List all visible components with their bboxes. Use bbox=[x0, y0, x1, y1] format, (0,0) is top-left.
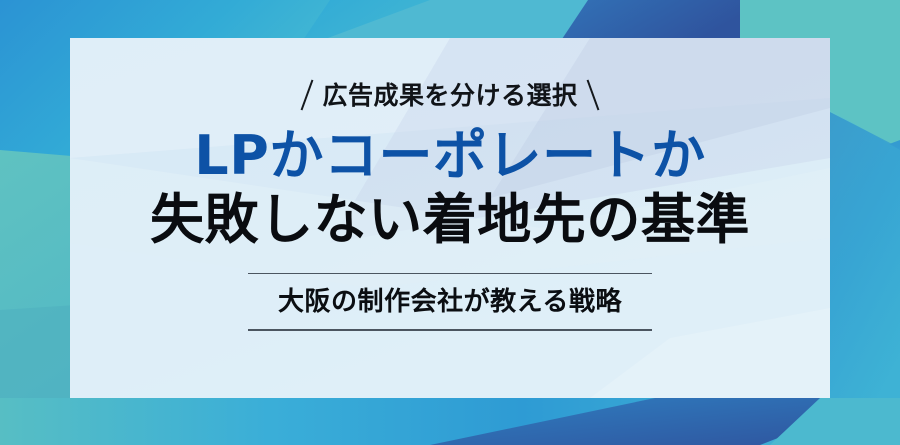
subtitle-text: 大阪の制作会社が教える戦略 bbox=[278, 274, 622, 329]
subtitle-rule-bottom bbox=[248, 329, 652, 331]
eyebrow-label: 広告成果を分ける選択 bbox=[306, 79, 593, 111]
banner-image: 広告成果を分ける選択 LPかコーポレートか 失敗しない着地先の基準 大阪の制作会… bbox=[0, 0, 900, 445]
slash-left-icon bbox=[301, 80, 314, 111]
page-title: LPかコーポレートか 失敗しない着地先の基準 bbox=[150, 126, 750, 251]
eyebrow-text: 広告成果を分ける選択 bbox=[322, 83, 577, 108]
title-line-2: 失敗しない着地先の基準 bbox=[150, 190, 750, 250]
slash-right-icon bbox=[586, 80, 599, 111]
title-line-1: LPかコーポレートか bbox=[150, 126, 750, 186]
subtitle-block: 大阪の制作会社が教える戦略 bbox=[248, 273, 652, 331]
banner-content: 広告成果を分ける選択 LPかコーポレートか 失敗しない着地先の基準 大阪の制作会… bbox=[70, 38, 830, 398]
